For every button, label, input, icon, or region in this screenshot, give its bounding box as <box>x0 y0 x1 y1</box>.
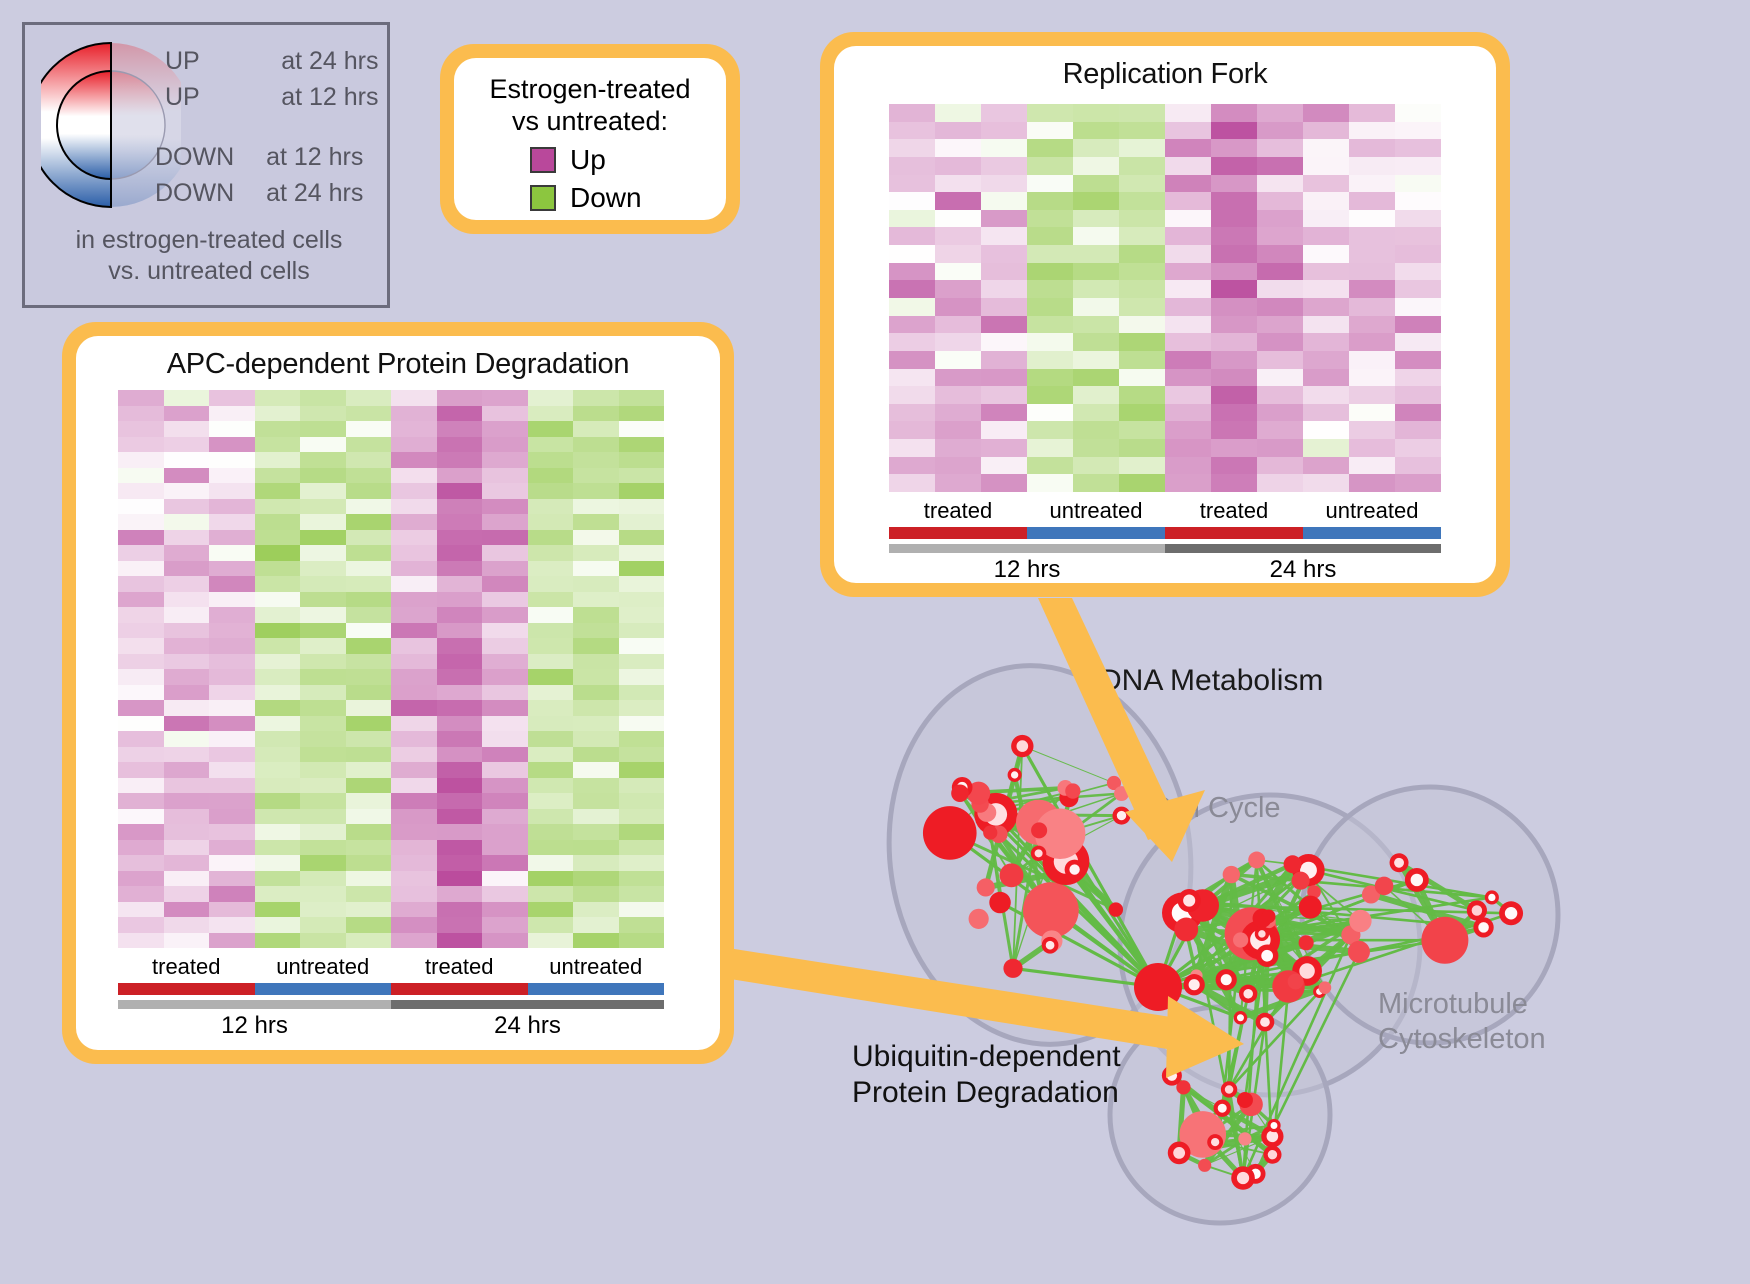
heatmap-cell <box>391 421 437 437</box>
pathway-network-diagram: DNA Metabolism Cell Cycle Microtubule Cy… <box>790 615 1750 1279</box>
heatmap-cell <box>391 468 437 484</box>
heatmap-cell <box>391 716 437 732</box>
network-node-core <box>1167 1070 1177 1080</box>
heatmap-cell <box>1027 369 1073 387</box>
heatmap-cell <box>391 514 437 530</box>
heatmap-cell <box>1395 104 1441 122</box>
heatmap-cell <box>118 390 164 406</box>
heatmap-cell <box>164 421 210 437</box>
heatmap-cell <box>619 545 665 561</box>
heatmap-cell <box>1303 351 1349 369</box>
heatmap-cell <box>164 607 210 623</box>
heatmap-cell <box>573 452 619 468</box>
heatmap-cell <box>391 855 437 871</box>
heatmap-cell <box>1257 245 1303 263</box>
heatmap-cell <box>619 700 665 716</box>
heatmap-cell <box>1119 439 1165 457</box>
network-node-core <box>1237 1014 1244 1021</box>
heatmap-cell <box>981 122 1027 140</box>
network-graph <box>790 615 1750 1279</box>
heatmap-cell <box>528 840 574 856</box>
heatmap-cell <box>528 483 574 499</box>
network-node <box>1248 852 1265 869</box>
heatmap-cell <box>1119 474 1165 492</box>
heatmap-cell <box>573 607 619 623</box>
heatmap-cell <box>981 157 1027 175</box>
heatmap-cell <box>1073 298 1119 316</box>
heatmap-cell <box>437 468 483 484</box>
axis-time-bar <box>889 544 1165 553</box>
axis-group-bar <box>391 983 528 995</box>
heatmap-cell <box>437 824 483 840</box>
heatmap-cell <box>209 700 255 716</box>
heatmap-cell <box>255 499 301 515</box>
heatmap-cell <box>1349 333 1395 351</box>
apc-panel: APC-dependent Protein Degradation treate… <box>62 322 734 1064</box>
heatmap-cell <box>1349 263 1395 281</box>
heatmap-cell <box>1165 369 1211 387</box>
heatmap-cell <box>573 902 619 918</box>
heatmap-cell <box>619 623 665 639</box>
heatmap-cell <box>889 316 935 334</box>
heatmap-cell <box>437 886 483 902</box>
heatmap-cell <box>1027 439 1073 457</box>
network-node-core <box>1011 771 1018 778</box>
heatmap-cell <box>209 623 255 639</box>
estrogen-title-line1: Estrogen-treated <box>464 74 716 106</box>
replication-fork-title: Replication Fork <box>834 46 1496 91</box>
network-node <box>989 892 1010 913</box>
heatmap-cell <box>255 390 301 406</box>
heatmap-cell <box>889 280 935 298</box>
heatmap-cell <box>300 592 346 608</box>
heatmap-cell <box>981 351 1027 369</box>
heatmap-cell <box>255 917 301 933</box>
heatmap-cell <box>482 499 528 515</box>
axis-group-bar <box>255 983 392 995</box>
axis-group-bar <box>118 983 255 995</box>
heatmap-cell <box>482 654 528 670</box>
heatmap-cell <box>118 592 164 608</box>
heatmap-cell <box>573 809 619 825</box>
heatmap-cell <box>482 592 528 608</box>
axis-group-label: untreated <box>255 954 392 980</box>
heatmap-cell <box>346 933 392 949</box>
heatmap-cell <box>1119 192 1165 210</box>
heatmap-cell <box>391 669 437 685</box>
network-node <box>983 825 997 839</box>
heatmap-cell <box>619 747 665 763</box>
replication-fork-panel: Replication Fork treateduntreatedtreated… <box>820 32 1510 597</box>
network-node <box>1023 882 1079 938</box>
heatmap-cell <box>528 716 574 732</box>
heatmap-cell <box>528 762 574 778</box>
network-node-core <box>1225 1085 1234 1094</box>
heatmap-cell <box>1211 386 1257 404</box>
heatmap-cell <box>1165 439 1211 457</box>
heatmap-cell <box>255 700 301 716</box>
heatmap-cell <box>164 700 210 716</box>
heatmap-cell <box>1257 122 1303 140</box>
up-label: Up <box>570 144 606 176</box>
heatmap-cell <box>1395 210 1441 228</box>
heatmap-cell <box>981 474 1027 492</box>
heatmap-cell <box>889 139 935 157</box>
heatmap-cell <box>209 437 255 453</box>
heatmap-cell <box>164 514 210 530</box>
heatmap-cell <box>118 809 164 825</box>
network-node <box>1262 909 1276 923</box>
heatmap-cell <box>889 227 935 245</box>
heatmap-cell <box>619 731 665 747</box>
heatmap-cell <box>1027 139 1073 157</box>
heatmap-cell <box>255 545 301 561</box>
heatmap-cell <box>1349 245 1395 263</box>
heatmap-cell <box>300 762 346 778</box>
heatmap-cell <box>164 778 210 794</box>
heatmap-cell <box>118 886 164 902</box>
heatmap-cell <box>209 669 255 685</box>
heatmap-cell <box>1395 157 1441 175</box>
heatmap-cell <box>346 514 392 530</box>
heatmap-cell <box>573 855 619 871</box>
heatmap-cell <box>1119 316 1165 334</box>
legend-label: UP <box>165 83 199 111</box>
heatmap-cell <box>981 210 1027 228</box>
heatmap-cell <box>889 192 935 210</box>
heatmap-cell <box>482 933 528 949</box>
heatmap-cell <box>1303 404 1349 422</box>
heatmap-cell <box>482 917 528 933</box>
heatmap-cell <box>164 871 210 887</box>
heatmap-cell <box>437 716 483 732</box>
heatmap-cell <box>209 406 255 422</box>
heatmap-cell <box>255 452 301 468</box>
heatmap-cell <box>1257 104 1303 122</box>
heatmap-cell <box>391 778 437 794</box>
heatmap-cell <box>889 245 935 263</box>
heatmap-cell <box>1165 351 1211 369</box>
heatmap-cell <box>889 421 935 439</box>
heatmap-cell <box>1073 175 1119 193</box>
heatmap-cell <box>118 607 164 623</box>
heatmap-cell <box>528 406 574 422</box>
heatmap-cell <box>1303 474 1349 492</box>
heatmap-cell <box>619 654 665 670</box>
heatmap-cell <box>209 576 255 592</box>
heatmap-cell <box>118 499 164 515</box>
network-label-dna-metabolism: DNA Metabolism <box>1100 663 1323 699</box>
heatmap-cell <box>209 747 255 763</box>
heatmap-cell <box>437 437 483 453</box>
network-node-core <box>1394 858 1404 868</box>
heatmap-cell <box>346 576 392 592</box>
axis-group-label: treated <box>889 498 1027 524</box>
heatmap-cell <box>255 778 301 794</box>
heatmap-cell <box>619 468 665 484</box>
heatmap-cell <box>255 747 301 763</box>
heatmap-cell <box>1119 298 1165 316</box>
heatmap-cell <box>1395 192 1441 210</box>
heatmap-cell <box>528 933 574 949</box>
heatmap-cell <box>391 917 437 933</box>
heatmap-cell <box>118 747 164 763</box>
legend-time: at 12 hrs <box>266 143 363 171</box>
heatmap-cell <box>437 871 483 887</box>
heatmap-cell <box>1257 280 1303 298</box>
network-label-cell-cycle: Cell Cycle <box>1150 791 1281 826</box>
heatmap-cell <box>619 855 665 871</box>
heatmap-cell <box>528 778 574 794</box>
network-node <box>1114 786 1129 801</box>
heatmap-cell <box>437 530 483 546</box>
heatmap-cell <box>346 855 392 871</box>
heatmap-cell <box>1257 474 1303 492</box>
heatmap-cell <box>1073 421 1119 439</box>
network-node-core <box>1299 963 1314 978</box>
heatmap-cell <box>255 592 301 608</box>
network-node <box>1349 910 1371 932</box>
heatmap-cell <box>118 824 164 840</box>
heatmap-cell <box>209 530 255 546</box>
network-node <box>969 909 989 929</box>
heatmap-cell <box>1349 316 1395 334</box>
heatmap-cell <box>118 514 164 530</box>
heatmap-cell <box>1303 139 1349 157</box>
heatmap-cell <box>619 530 665 546</box>
heatmap-cell <box>1211 439 1257 457</box>
heatmap-cell <box>209 499 255 515</box>
heatmap-cell <box>300 437 346 453</box>
heatmap-cell <box>528 638 574 654</box>
network-node-core <box>1261 950 1273 962</box>
heatmap-cell <box>573 483 619 499</box>
heatmap-cell <box>391 871 437 887</box>
heatmap-cell <box>528 669 574 685</box>
heatmap-cell <box>255 685 301 701</box>
heatmap-cell <box>391 390 437 406</box>
heatmap-cell <box>573 406 619 422</box>
heatmap-cell <box>935 386 981 404</box>
heatmap-cell <box>573 421 619 437</box>
heatmap-cell <box>209 824 255 840</box>
heatmap-cell <box>300 747 346 763</box>
heatmap-cell <box>1349 210 1395 228</box>
heatmap-cell <box>346 685 392 701</box>
heatmap-cell <box>437 483 483 499</box>
heatmap-cell <box>391 933 437 949</box>
heatmap-cell <box>528 530 574 546</box>
heatmap-cell <box>1027 245 1073 263</box>
heatmap-cell <box>1027 404 1073 422</box>
axis-time-bar <box>118 1000 391 1009</box>
heatmap-cell <box>1165 104 1211 122</box>
legend-footer-line1: in estrogen-treated cells <box>25 225 393 256</box>
heatmap-cell <box>164 390 210 406</box>
heatmap-cell <box>619 483 665 499</box>
heatmap-cell <box>619 452 665 468</box>
heatmap-cell <box>1395 404 1441 422</box>
heatmap-cell <box>1165 139 1211 157</box>
heatmap-cell <box>573 654 619 670</box>
heatmap-cell <box>300 731 346 747</box>
legend-label: DOWN <box>155 143 234 171</box>
heatmap-cell <box>889 104 935 122</box>
heatmap-cell <box>1119 457 1165 475</box>
heatmap-cell <box>1303 457 1349 475</box>
heatmap-cell <box>300 638 346 654</box>
heatmap-cell <box>482 561 528 577</box>
heatmap-cell <box>300 561 346 577</box>
heatmap-cell <box>437 700 483 716</box>
heatmap-cell <box>346 747 392 763</box>
heatmap-cell <box>1257 210 1303 228</box>
heatmap-cell <box>619 576 665 592</box>
heatmap-cell <box>346 886 392 902</box>
axis-time-label: 12 hrs <box>889 556 1165 584</box>
heatmap-cell <box>164 499 210 515</box>
heatmap-cell <box>209 421 255 437</box>
heatmap-cell <box>209 654 255 670</box>
heatmap-cell <box>391 654 437 670</box>
axis-time-label: 24 hrs <box>391 1012 664 1040</box>
heatmap-cell <box>164 669 210 685</box>
heatmap-cell <box>1257 404 1303 422</box>
heatmap-cell <box>255 840 301 856</box>
heatmap-cell <box>573 700 619 716</box>
heatmap-cell <box>346 716 392 732</box>
network-node-core <box>1267 1131 1279 1143</box>
heatmap-cell <box>619 406 665 422</box>
heatmap-cell <box>209 716 255 732</box>
heatmap-cell <box>889 175 935 193</box>
heatmap-cell <box>118 716 164 732</box>
heatmap-cell <box>482 468 528 484</box>
heatmap-cell <box>482 731 528 747</box>
heatmap-cell <box>164 623 210 639</box>
heatmap-cell <box>164 933 210 949</box>
heatmap-cell <box>1303 175 1349 193</box>
heatmap-cell <box>935 192 981 210</box>
color-scale-legend: UP at 24 hrs UP at 12 hrs DOWN at 12 hrs… <box>22 22 390 308</box>
heatmap-cell <box>437 809 483 825</box>
heatmap-cell <box>935 404 981 422</box>
axis-group-label: treated <box>1165 498 1303 524</box>
heatmap-cell <box>1349 227 1395 245</box>
network-label-microtubule-cytoskeleton: Microtubule Cytoskeleton <box>1378 987 1546 1057</box>
heatmap-cell <box>1303 280 1349 298</box>
network-node <box>1292 872 1310 890</box>
network-node-core <box>1017 740 1029 752</box>
heatmap-cell <box>981 386 1027 404</box>
heatmap-cell <box>1257 175 1303 193</box>
heatmap-cell <box>346 623 392 639</box>
heatmap-cell <box>164 638 210 654</box>
heatmap-cell <box>1165 122 1211 140</box>
network-node <box>1299 935 1314 950</box>
heatmap-cell <box>437 514 483 530</box>
heatmap-cell <box>619 716 665 732</box>
heatmap-cell <box>1395 316 1441 334</box>
heatmap-cell <box>1027 122 1073 140</box>
heatmap-cell <box>437 561 483 577</box>
heatmap-cell <box>528 793 574 809</box>
heatmap-cell <box>935 369 981 387</box>
heatmap-cell <box>118 638 164 654</box>
heatmap-cell <box>255 406 301 422</box>
heatmap-cell <box>391 824 437 840</box>
legend-footer: in estrogen-treated cells vs. untreated … <box>25 225 393 286</box>
heatmap-cell <box>209 871 255 887</box>
heatmap-cell <box>889 298 935 316</box>
heatmap-cell <box>1073 227 1119 245</box>
network-node <box>1031 822 1047 838</box>
heatmap-cell <box>1211 104 1257 122</box>
heatmap-cell <box>1027 210 1073 228</box>
heatmap-cell <box>1349 157 1395 175</box>
heatmap-cell <box>981 245 1027 263</box>
network-node-core <box>1260 1017 1270 1027</box>
heatmap-cell <box>209 607 255 623</box>
network-node-core <box>1173 1147 1185 1159</box>
heatmap-cell <box>482 685 528 701</box>
heatmap-cell <box>391 530 437 546</box>
heatmap-cell <box>209 793 255 809</box>
heatmap-cell <box>437 406 483 422</box>
heatmap-cell <box>437 638 483 654</box>
heatmap-cell <box>300 778 346 794</box>
network-node <box>1174 918 1198 942</box>
heatmap-cell <box>528 514 574 530</box>
legend-time: at 12 hrs <box>281 83 378 111</box>
heatmap-cell <box>889 351 935 369</box>
heatmap-cell <box>164 406 210 422</box>
heatmap-cell <box>346 654 392 670</box>
heatmap-cell <box>209 685 255 701</box>
legend-label: DOWN <box>155 179 234 207</box>
heatmap-cell <box>255 855 301 871</box>
heatmap-cell <box>1027 263 1073 281</box>
heatmap-cell <box>437 762 483 778</box>
heatmap-cell <box>1395 263 1441 281</box>
heatmap-cell <box>346 840 392 856</box>
heatmap-cell <box>437 607 483 623</box>
heatmap-cell <box>118 902 164 918</box>
heatmap-cell <box>300 669 346 685</box>
heatmap-cell <box>1073 439 1119 457</box>
heatmap-cell <box>482 716 528 732</box>
heatmap-cell <box>346 731 392 747</box>
heatmap-cell <box>1257 227 1303 245</box>
heatmap-cell <box>391 576 437 592</box>
heatmap-cell <box>1119 104 1165 122</box>
legend-row-up-24: UP at 24 hrs <box>165 47 378 76</box>
heatmap-cell <box>164 685 210 701</box>
heatmap-cell <box>300 545 346 561</box>
heatmap-cell <box>346 793 392 809</box>
heatmap-cell <box>619 437 665 453</box>
heatmap-cell <box>1211 280 1257 298</box>
heatmap-cell <box>482 530 528 546</box>
heatmap-cell <box>619 778 665 794</box>
heatmap-cell <box>255 824 301 840</box>
heatmap-cell <box>300 390 346 406</box>
heatmap-cell <box>346 638 392 654</box>
heatmap-cell <box>528 824 574 840</box>
heatmap-cell <box>619 421 665 437</box>
heatmap-cell <box>1349 386 1395 404</box>
heatmap-cell <box>482 390 528 406</box>
